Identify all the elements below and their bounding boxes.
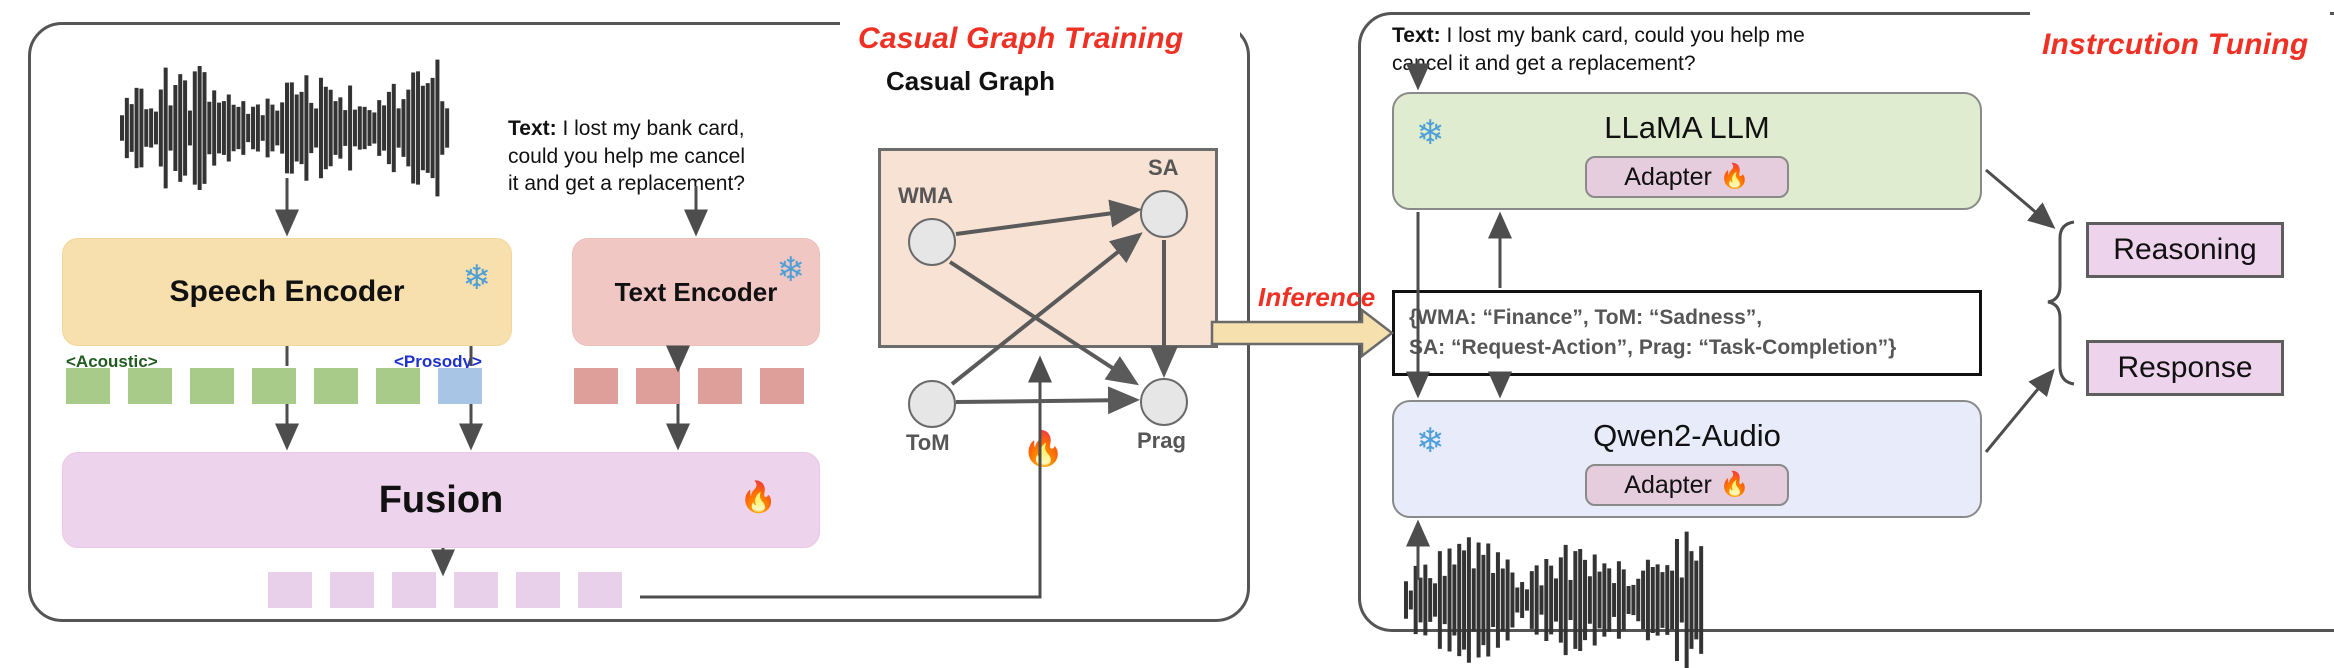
inference-label: Inference xyxy=(1258,282,1375,313)
llama-adapter-label: Adapter xyxy=(1624,163,1712,192)
left-text-prompt-label: Text: xyxy=(508,117,557,140)
text-encoder-box[interactable]: Text Encoder ❄ xyxy=(572,238,820,346)
qwen2-audio-box[interactable]: ❄ Qwen2-Audio Adapter 🔥 xyxy=(1392,400,1982,518)
token-purple xyxy=(392,572,436,608)
token-red xyxy=(698,368,742,404)
flame-icon: 🔥 xyxy=(1720,165,1750,189)
output-response-label: Response xyxy=(2117,351,2252,385)
output-response[interactable]: Response xyxy=(2086,340,2284,396)
right-text-prompt-label: Text: xyxy=(1392,24,1441,47)
snowflake-icon: ❄ xyxy=(777,253,806,287)
llama-llm-name: LLaMA LLM xyxy=(1394,110,1980,146)
graph-node-wma[interactable] xyxy=(908,218,956,266)
qwen-adapter[interactable]: Adapter 🔥 xyxy=(1585,464,1789,506)
llama-adapter[interactable]: Adapter 🔥 xyxy=(1585,156,1789,198)
token-green xyxy=(190,368,234,404)
qwen-adapter-label: Adapter xyxy=(1624,471,1712,500)
graph-node-wma-label: WMA xyxy=(898,183,953,209)
fusion-label: Fusion xyxy=(379,479,504,522)
token-red xyxy=(574,368,618,404)
fusion-box[interactable]: Fusion 🔥 xyxy=(62,452,820,548)
graph-node-sa[interactable] xyxy=(1140,190,1188,238)
graph-node-tom[interactable] xyxy=(908,380,956,428)
diagram-canvas: Casual Graph Training Instrcution Tuning… xyxy=(0,0,2334,668)
token-purple xyxy=(578,572,622,608)
right-text-prompt: Text: I lost my bank card, could you hel… xyxy=(1392,22,1862,77)
llama-llm-box[interactable]: ❄ LLaMA LLM Adapter 🔥 xyxy=(1392,92,1982,210)
qwen2-audio-name: Qwen2-Audio xyxy=(1394,418,1980,454)
flame-icon: 🔥 xyxy=(1720,473,1750,497)
token-purple xyxy=(330,572,374,608)
token-purple xyxy=(454,572,498,608)
inference-result-text: {WMA: “Finance”, ToM: “Sadness”, SA: “Re… xyxy=(1409,303,1896,363)
casual-graph-title: Casual Graph xyxy=(886,66,1055,97)
token-green xyxy=(314,368,358,404)
flame-icon: 🔥 xyxy=(1022,432,1064,466)
token-red xyxy=(636,368,680,404)
token-green xyxy=(376,368,420,404)
speech-encoder-label: Speech Encoder xyxy=(169,275,404,309)
right-text-prompt-value: I lost my bank card, could you help me c… xyxy=(1392,24,1805,75)
output-reasoning[interactable]: Reasoning xyxy=(2086,222,2284,278)
left-text-prompt: Text: I lost my bank card, could you hel… xyxy=(508,115,758,198)
token-green xyxy=(252,368,296,404)
text-encoder-label: Text Encoder xyxy=(615,277,778,308)
graph-node-prag-label: Prag xyxy=(1137,428,1186,454)
token-purple xyxy=(516,572,560,608)
right-panel-title: Instrcution Tuning xyxy=(2042,28,2308,62)
token-red xyxy=(760,368,804,404)
token-green xyxy=(66,368,110,404)
speech-encoder-box[interactable]: Speech Encoder ❄ xyxy=(62,238,512,346)
inference-result-box: {WMA: “Finance”, ToM: “Sadness”, SA: “Re… xyxy=(1392,290,1982,376)
left-panel-title: Casual Graph Training xyxy=(858,22,1183,56)
snowflake-icon: ❄ xyxy=(463,261,492,295)
token-green xyxy=(128,368,172,404)
inference-result-line1: {WMA: “Finance”, ToM: “Sadness”, xyxy=(1409,303,1896,333)
token-blue xyxy=(438,368,482,404)
flame-icon: 🔥 xyxy=(740,483,777,513)
graph-node-sa-label: SA xyxy=(1148,155,1179,181)
token-purple xyxy=(268,572,312,608)
output-reasoning-label: Reasoning xyxy=(2113,233,2256,267)
graph-node-tom-label: ToM xyxy=(906,430,950,456)
graph-node-prag[interactable] xyxy=(1140,378,1188,426)
inference-result-line2: SA: “Request-Action”, Prag: “Task-Comple… xyxy=(1409,333,1896,363)
